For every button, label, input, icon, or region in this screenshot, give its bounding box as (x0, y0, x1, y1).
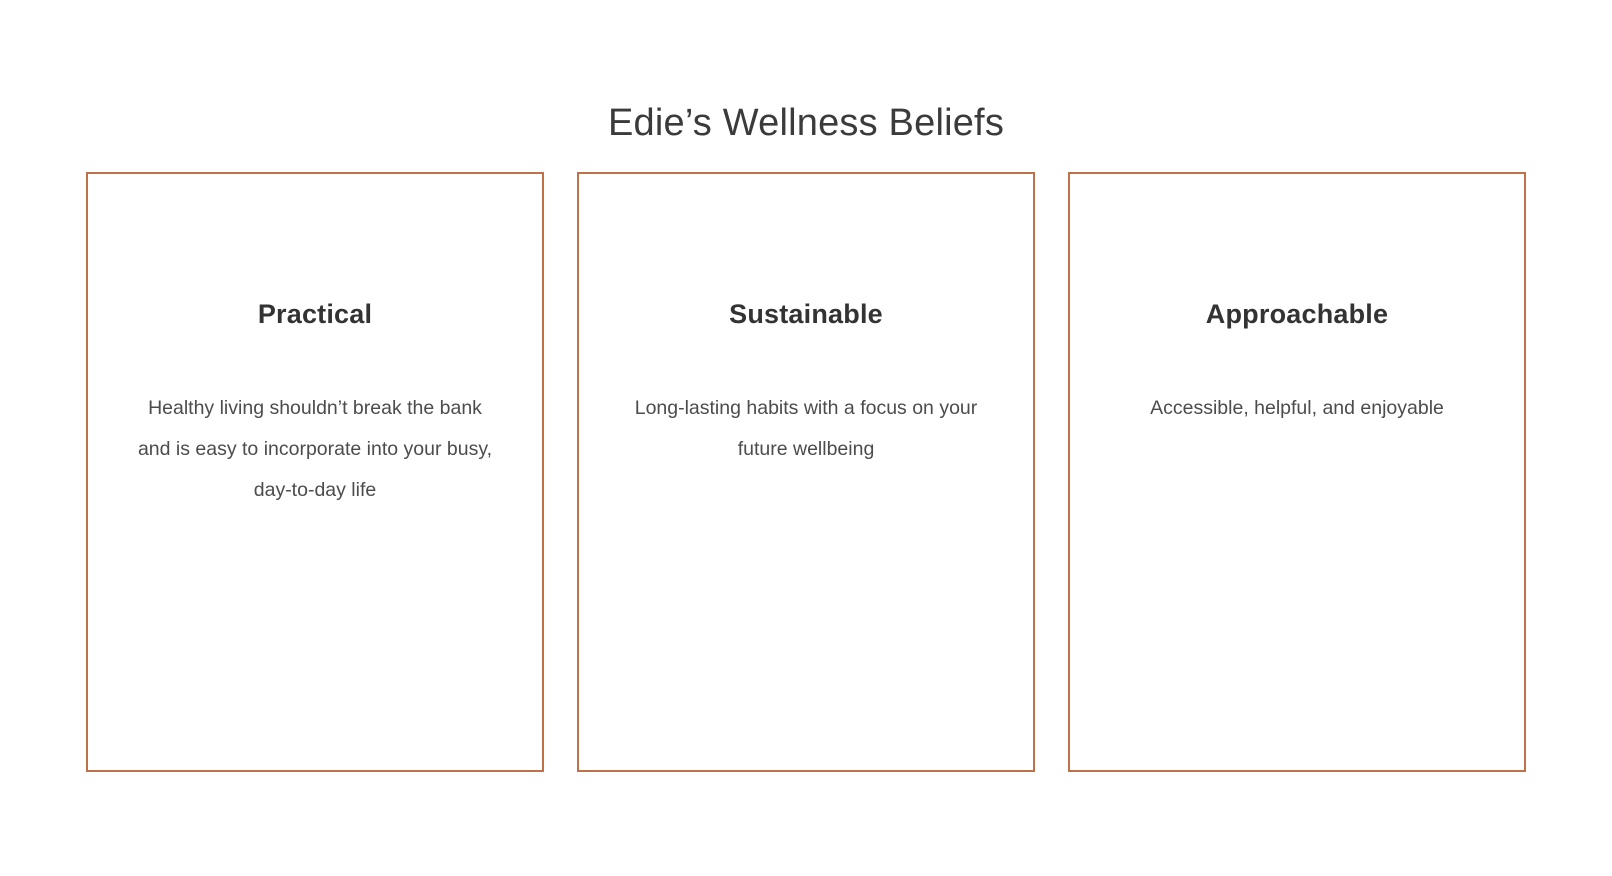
belief-card-heading: Approachable (1206, 297, 1388, 331)
belief-card-heading: Practical (258, 297, 372, 331)
belief-card-body: Healthy living shouldn’t break the bank … (130, 388, 500, 511)
belief-card-sustainable: Sustainable Long-lasting habits with a f… (577, 172, 1035, 772)
belief-card-body: Long-lasting habits with a focus on your… (631, 388, 981, 470)
belief-card-practical: Practical Healthy living shouldn’t break… (86, 172, 544, 772)
wellness-beliefs-page: Edie’s Wellness Beliefs Practical Health… (0, 0, 1612, 876)
belief-card-approachable: Approachable Accessible, helpful, and en… (1068, 172, 1526, 772)
beliefs-card-row: Practical Healthy living shouldn’t break… (86, 172, 1526, 772)
page-title: Edie’s Wellness Beliefs (0, 97, 1612, 149)
belief-card-heading: Sustainable (729, 297, 883, 331)
belief-card-body: Accessible, helpful, and enjoyable (1150, 388, 1444, 429)
